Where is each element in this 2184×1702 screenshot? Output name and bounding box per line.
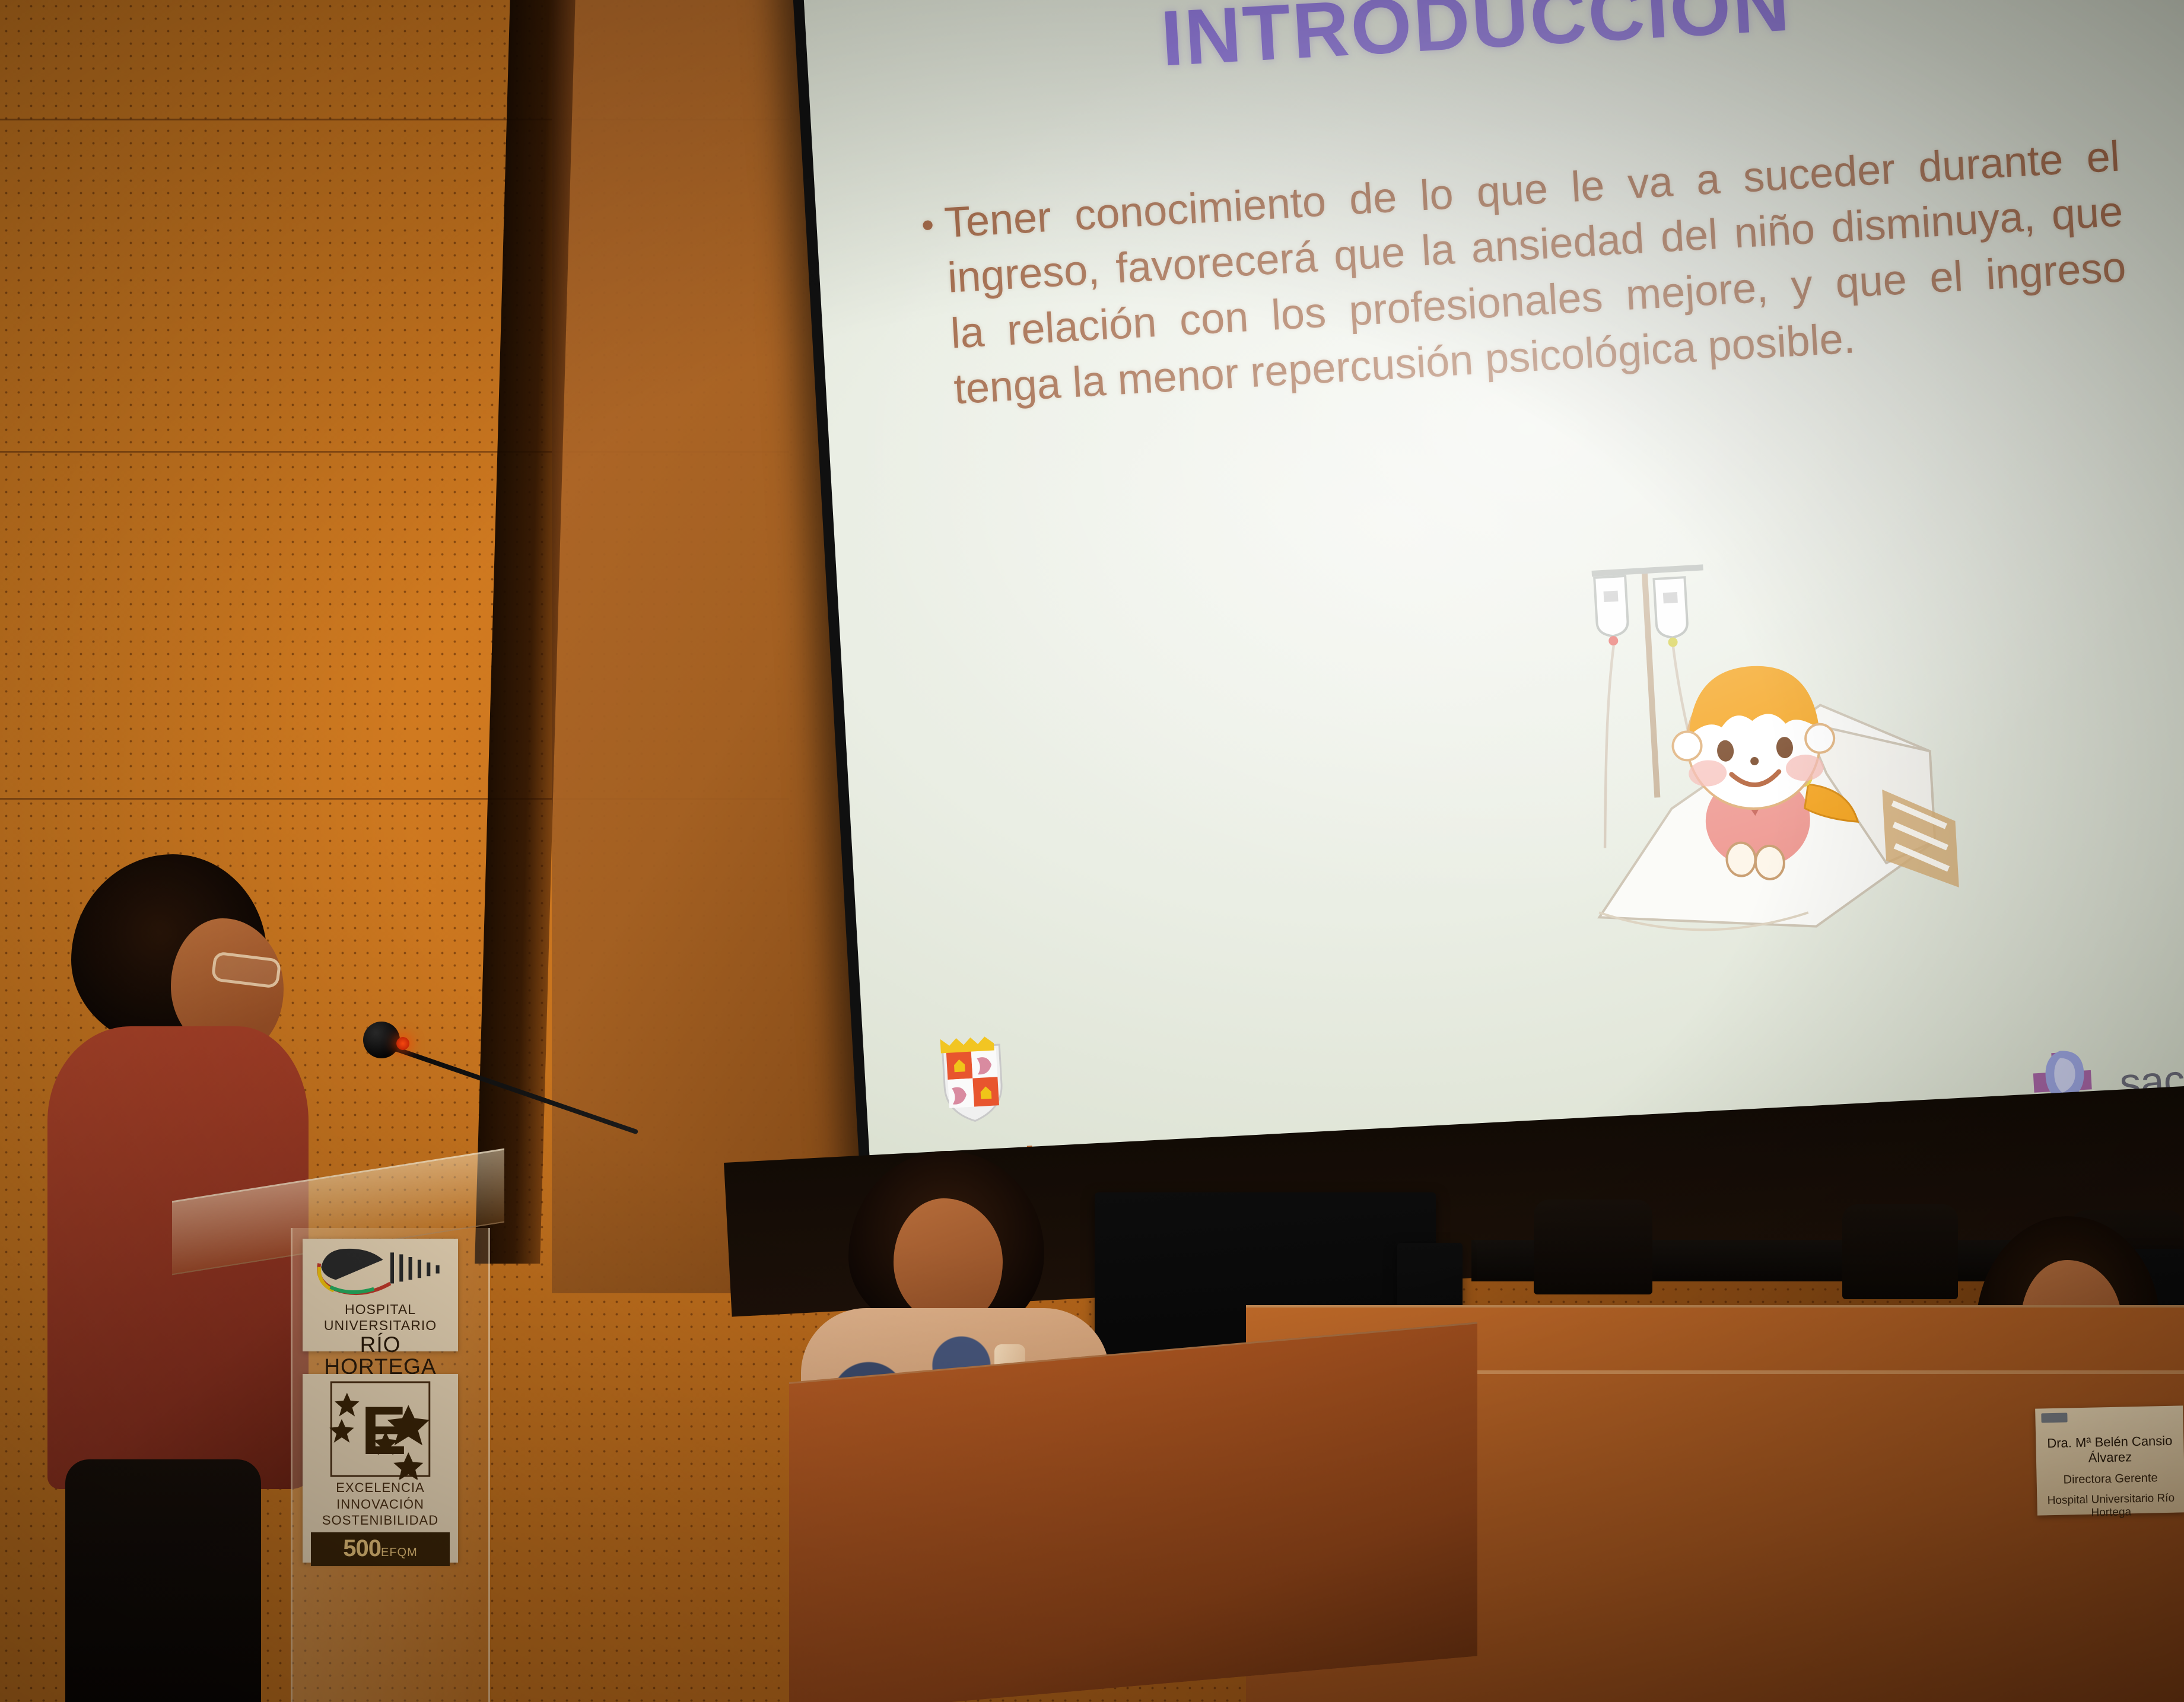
conference-table-front [789, 1322, 1477, 1702]
bullet-marker-icon: • [920, 207, 945, 419]
chair-back [1534, 1200, 1652, 1294]
presenter-legs [65, 1459, 261, 1702]
excellence-e-stars-icon: E [327, 1379, 434, 1480]
slide-surface: INTRODUCCION • Tener conocimiento de lo … [804, 0, 2184, 1233]
excellence-line3: SOSTENIBILIDAD [303, 1512, 458, 1529]
hospital-logo-card: HOSPITAL UNIVERSITARIO RÍO HORTEGA [303, 1239, 458, 1351]
child-in-hospital-bed-illustration [1563, 540, 1987, 942]
efqm-label: EFQM [381, 1546, 418, 1559]
nameplate-org: Hospital Universitario Río Hortega [2043, 1492, 2179, 1521]
hospital-logo-line1: HOSPITAL UNIVERSITARIO [303, 1302, 458, 1334]
hospital-logo-line2: RÍO HORTEGA [303, 1334, 458, 1377]
projection-screen: INTRODUCCION • Tener conocimiento de lo … [789, 0, 2184, 1249]
efqm-score: 500 [343, 1535, 381, 1561]
castilla-y-leon-crest-icon [926, 1028, 1021, 1140]
efqm-badge: 500EFQM [311, 1532, 450, 1566]
nameplate-role: Directora Gerente [2042, 1471, 2178, 1488]
auditorium-photo: INTRODUCCION • Tener conocimiento de lo … [0, 0, 2184, 1702]
slide-bullet: • Tener conocimiento de lo que le va a s… [920, 129, 2131, 418]
excellence-line1: EXCELENCIA [303, 1480, 458, 1496]
slide-title: INTRODUCCION [1159, 0, 1793, 84]
microphone-icon [363, 1022, 400, 1058]
microphone-led [396, 1037, 409, 1050]
lectern: HOSPITAL UNIVERSITARIO RÍO HORTEGA E EXC… [291, 1175, 487, 1702]
nameplate-logo-icon [2041, 1412, 2067, 1423]
chair-back [1842, 1204, 1958, 1299]
excellence-logo-card: E EXCELENCIA INNOVACIÓN SOSTENIBILIDAD 5… [303, 1374, 458, 1563]
nameplate: Dra. Mª Belén Cansio Álvarez Directora G… [2035, 1405, 2184, 1515]
nameplate-name: Dra. Mª Belén Cansio Álvarez [2042, 1433, 2178, 1467]
slide-bullet-text: Tener conocimiento de lo que le va a suc… [943, 129, 2131, 417]
rio-hortega-mark-icon [312, 1243, 449, 1298]
excellence-line2: INNOVACIÓN [303, 1496, 458, 1513]
